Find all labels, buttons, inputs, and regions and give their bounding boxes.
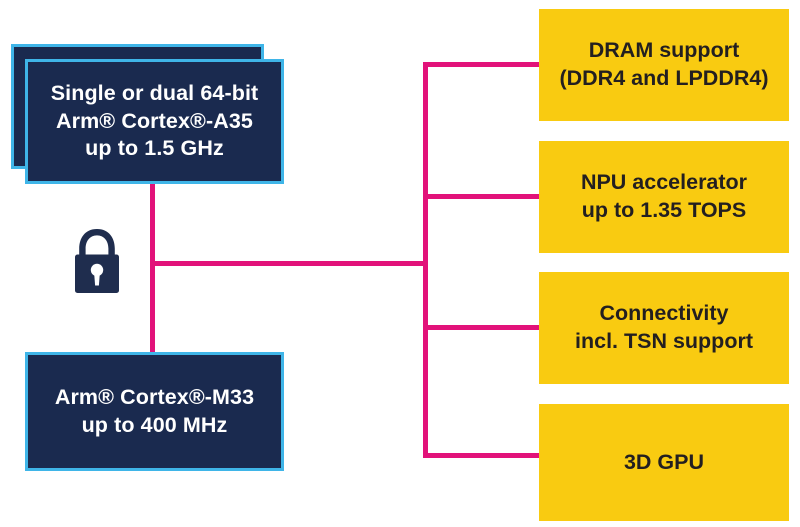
connector-branch-gpu <box>423 453 542 458</box>
connector-branch-npu <box>423 194 542 199</box>
feature-block-dram-line-2: (DDR4 and LPDDR4) <box>559 65 768 93</box>
feature-block-npu-line-1: NPU accelerator <box>581 169 747 197</box>
feature-block-dram[interactable]: DRAM support (DDR4 and LPDDR4) <box>539 9 789 121</box>
lock-icon <box>71 226 123 295</box>
connector-cpu-trunk <box>150 182 155 354</box>
feature-block-connectivity-line-2: incl. TSN support <box>575 328 753 356</box>
feature-block-dram-line-1: DRAM support <box>559 37 768 65</box>
feature-block-gpu[interactable]: 3D GPU <box>539 404 789 521</box>
feature-block-gpu-line-1: 3D GPU <box>624 449 704 477</box>
soc-block-diagram: Single or dual 64-bit Arm® Cortex®-A35 u… <box>0 0 800 527</box>
connector-branch-connectivity <box>423 325 542 330</box>
cpu-block-m33-line-2: up to 400 MHz <box>55 412 254 440</box>
feature-block-connectivity[interactable]: Connectivity incl. TSN support <box>539 272 789 384</box>
cpu-block-a35-line-1: Single or dual 64-bit <box>51 80 259 108</box>
connector-spine <box>150 261 427 266</box>
connector-branch-dram <box>423 62 542 67</box>
cpu-block-a35[interactable]: Single or dual 64-bit Arm® Cortex®-A35 u… <box>25 59 284 184</box>
cpu-block-a35-line-3: up to 1.5 GHz <box>51 135 259 163</box>
cpu-block-m33[interactable]: Arm® Cortex®-M33 up to 400 MHz <box>25 352 284 471</box>
cpu-block-a35-line-2: Arm® Cortex®-A35 <box>51 108 259 136</box>
feature-block-npu-line-2: up to 1.35 TOPS <box>581 197 747 225</box>
connector-feature-bus <box>423 62 428 458</box>
feature-block-connectivity-line-1: Connectivity <box>575 300 753 328</box>
feature-block-npu[interactable]: NPU accelerator up to 1.35 TOPS <box>539 141 789 253</box>
cpu-block-m33-line-1: Arm® Cortex®-M33 <box>55 384 254 412</box>
